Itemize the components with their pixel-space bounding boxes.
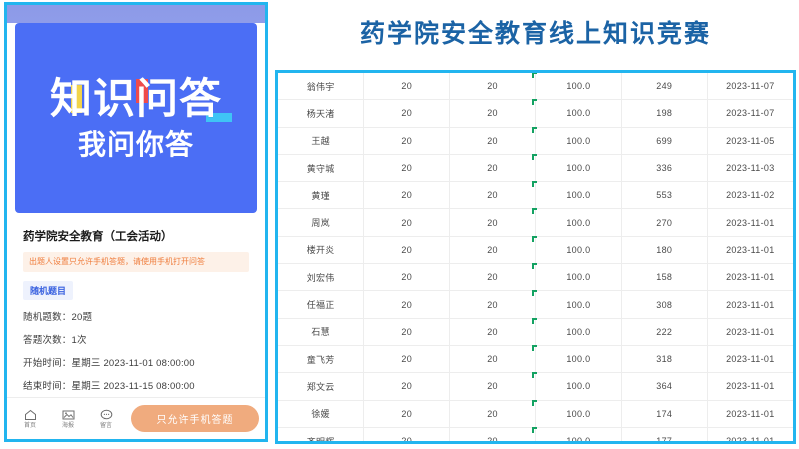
table-cell-题数: 20 (364, 100, 450, 127)
table-cell-题数: 20 (364, 318, 450, 345)
table-cell-姓名: 王越 (278, 127, 364, 154)
table-cell-日期: 2023-11-02 (707, 182, 793, 209)
nav-label-message: 留言 (100, 423, 112, 429)
table-cell-用时: 180 (621, 236, 707, 263)
table-cell-题数: 20 (364, 291, 450, 318)
table-cell-得分: 100.0 (535, 345, 621, 372)
table-cell-用时: 336 (621, 154, 707, 181)
table-cell-题数: 20 (364, 345, 450, 372)
random-questions-tag: 随机题目 (23, 281, 73, 300)
table-cell-得分: 100.0 (535, 182, 621, 209)
table-cell-日期: 2023-11-01 (707, 373, 793, 400)
table-cell-得分: 100.0 (535, 209, 621, 236)
message-icon (100, 409, 113, 421)
table-cell-答对数: 20 (450, 127, 536, 154)
nav-label-poster: 海报 (62, 423, 74, 429)
table-cell-得分: 100.0 (535, 154, 621, 181)
table-cell-得分: 100.0 (535, 427, 621, 444)
quiz-hero-banner: 知识问答 我问你答 (15, 23, 257, 213)
table-cell-答对数: 20 (450, 318, 536, 345)
table-cell-姓名: 徐媛 (278, 400, 364, 427)
table-cell-日期: 2023-11-05 (707, 127, 793, 154)
meta-attempt-count: 答题次数：1次 (23, 332, 249, 346)
table-cell-题数: 20 (364, 154, 450, 181)
table-cell-姓名: 郑文云 (278, 373, 364, 400)
bottom-navigation-bar: 首页 海报 留言 (7, 397, 265, 439)
table-row: 周岚2020100.02702023-11-01 (278, 209, 793, 236)
table-cell-姓名: 童飞芳 (278, 345, 364, 372)
table-cell-用时: 364 (621, 373, 707, 400)
table-row: 楼开炎2020100.01802023-11-01 (278, 236, 793, 263)
table-cell-姓名: 石慧 (278, 318, 364, 345)
table-row: 郑文云2020100.03642023-11-01 (278, 373, 793, 400)
table-cell-日期: 2023-11-01 (707, 264, 793, 291)
table-cell-答对数: 20 (450, 373, 536, 400)
table-cell-日期: 2023-11-03 (707, 154, 793, 181)
table-cell-题数: 20 (364, 182, 450, 209)
table-cell-日期: 2023-11-01 (707, 209, 793, 236)
table-cell-日期: 2023-11-01 (707, 318, 793, 345)
table-cell-答对数: 20 (450, 264, 536, 291)
table-cell-日期: 2023-11-01 (707, 236, 793, 263)
table-cell-用时: 553 (621, 182, 707, 209)
results-table: 翁伟宇2020100.02492023-11-07杨天渚2020100.0198… (278, 73, 793, 444)
table-cell-姓名: 周岚 (278, 209, 364, 236)
table-cell-题数: 20 (364, 264, 450, 291)
table-cell-答对数: 20 (450, 400, 536, 427)
table-cell-题数: 20 (364, 127, 450, 154)
table-cell-用时: 318 (621, 345, 707, 372)
phone-preview-panel: 知识问答 我问你答 药学院安全教育（工会活动） 出题人设置只允许手机答题，请使用… (4, 2, 268, 442)
table-cell-答对数: 20 (450, 236, 536, 263)
quiz-info-card: 药学院安全教育（工会活动） 出题人设置只允许手机答题，请使用手机打开问答 随机题… (15, 223, 257, 397)
table-cell-日期: 2023-11-01 (707, 291, 793, 318)
meta-end-time: 结束时间：星期三 2023-11-15 08:00:00 (23, 378, 249, 392)
table-cell-姓名: 翁伟宇 (278, 73, 364, 100)
table-cell-答对数: 20 (450, 182, 536, 209)
results-table-frame: 翁伟宇2020100.02492023-11-07杨天渚2020100.0198… (275, 70, 796, 444)
table-cell-姓名: 刘宏伟 (278, 264, 364, 291)
table-cell-题数: 20 (364, 373, 450, 400)
hero-title-primary: 知识问答 (50, 78, 222, 120)
table-row: 石慧2020100.02222023-11-01 (278, 318, 793, 345)
table-cell-日期: 2023-11-07 (707, 73, 793, 100)
table-cell-题数: 20 (364, 427, 450, 444)
table-cell-得分: 100.0 (535, 264, 621, 291)
table-cell-日期: 2023-11-01 (707, 345, 793, 372)
table-cell-得分: 100.0 (535, 100, 621, 127)
table-cell-姓名: 黄守城 (278, 154, 364, 181)
table-cell-日期: 2023-11-07 (707, 100, 793, 127)
table-cell-得分: 100.0 (535, 400, 621, 427)
results-area: 药学院安全教育线上知识竞赛 翁伟宇2020100.02492023-11-07杨… (272, 0, 799, 449)
table-cell-题数: 20 (364, 400, 450, 427)
table-cell-得分: 100.0 (535, 318, 621, 345)
table-row: 童飞芳2020100.03182023-11-01 (278, 345, 793, 372)
table-row: 翁伟宇2020100.02492023-11-07 (278, 73, 793, 100)
answer-quiz-button[interactable]: 只允许手机答题 (131, 405, 259, 432)
table-row: 黄守城2020100.03362023-11-03 (278, 154, 793, 181)
table-cell-用时: 270 (621, 209, 707, 236)
table-cell-姓名: 杨天渚 (278, 100, 364, 127)
table-cell-用时: 174 (621, 400, 707, 427)
meta-question-count: 随机题数：20题 (23, 309, 249, 323)
table-cell-题数: 20 (364, 236, 450, 263)
table-cell-得分: 100.0 (535, 373, 621, 400)
results-table-body: 翁伟宇2020100.02492023-11-07杨天渚2020100.0198… (278, 73, 793, 444)
table-cell-用时: 158 (621, 264, 707, 291)
table-cell-答对数: 20 (450, 73, 536, 100)
table-cell-用时: 308 (621, 291, 707, 318)
table-cell-答对数: 20 (450, 291, 536, 318)
table-cell-答对数: 20 (450, 154, 536, 181)
table-cell-用时: 177 (621, 427, 707, 444)
table-row: 任福正2020100.03082023-11-01 (278, 291, 793, 318)
table-cell-题数: 20 (364, 209, 450, 236)
table-cell-日期: 2023-11-01 (707, 427, 793, 444)
nav-item-home[interactable]: 首页 (11, 409, 49, 429)
table-cell-姓名: 楼开炎 (278, 236, 364, 263)
table-cell-题数: 20 (364, 73, 450, 100)
hero-title-secondary: 我问你答 (78, 131, 194, 159)
table-cell-答对数: 20 (450, 100, 536, 127)
poster-icon (62, 409, 75, 421)
table-row: 王越2020100.06992023-11-05 (278, 127, 793, 154)
page-title: 药学院安全教育线上知识竞赛 (272, 14, 799, 50)
table-cell-得分: 100.0 (535, 236, 621, 263)
table-cell-得分: 100.0 (535, 127, 621, 154)
table-cell-得分: 100.0 (535, 291, 621, 318)
table-cell-得分: 100.0 (535, 73, 621, 100)
table-cell-用时: 699 (621, 127, 707, 154)
table-cell-用时: 222 (621, 318, 707, 345)
home-icon (24, 409, 37, 421)
table-row: 齐明辉2020100.01772023-11-01 (278, 427, 793, 444)
nav-item-message[interactable]: 留言 (87, 409, 125, 429)
table-row: 黄瑾2020100.05532023-11-02 (278, 182, 793, 209)
table-cell-用时: 249 (621, 73, 707, 100)
table-row: 徐媛2020100.01742023-11-01 (278, 400, 793, 427)
table-cell-日期: 2023-11-01 (707, 400, 793, 427)
meta-start-time: 开始时间：星期三 2023-11-01 08:00:00 (23, 355, 249, 369)
table-cell-姓名: 齐明辉 (278, 427, 364, 444)
table-row: 杨天渚2020100.01982023-11-07 (278, 100, 793, 127)
table-cell-用时: 198 (621, 100, 707, 127)
phone-status-bar (7, 5, 265, 23)
table-cell-答对数: 20 (450, 427, 536, 444)
table-row: 刘宏伟2020100.01582023-11-01 (278, 264, 793, 291)
activity-title: 药学院安全教育（工会活动） (15, 225, 257, 244)
tag-row: 随机题目 (23, 281, 249, 300)
table-cell-姓名: 黄瑾 (278, 182, 364, 209)
nav-label-home: 首页 (24, 423, 36, 429)
mobile-only-notice: 出题人设置只允许手机答题，请使用手机打开问答 (23, 252, 249, 272)
table-cell-答对数: 20 (450, 345, 536, 372)
nav-item-poster[interactable]: 海报 (49, 409, 87, 429)
table-cell-答对数: 20 (450, 209, 536, 236)
table-cell-姓名: 任福正 (278, 291, 364, 318)
